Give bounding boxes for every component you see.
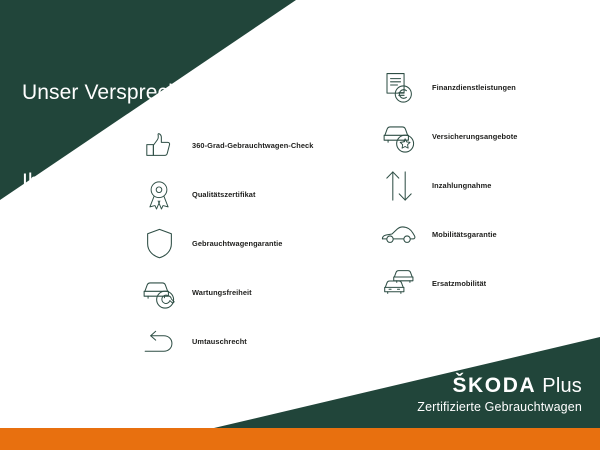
car-star-icon (376, 115, 422, 159)
thumbs-up-icon (136, 124, 182, 168)
feature-label: Mobilitätsgarantie (432, 230, 497, 239)
feature-item-finanzdienstleistungen[interactable]: Finanzdienstleistungen (376, 63, 517, 112)
feature-item-360-grad-check[interactable]: 360-Grad-Gebrauchtwagen-Check (136, 121, 313, 170)
feature-item-wartungsfreiheit[interactable]: Wartungsfreiheit (136, 268, 313, 317)
feature-label: Wartungsfreiheit (192, 288, 252, 297)
feature-list-left: 360-Grad-Gebrauchtwagen-Check Qualitätsz… (136, 121, 313, 366)
car-wrench-icon (136, 271, 182, 315)
feature-label: 360-Grad-Gebrauchtwagen-Check (192, 141, 313, 150)
feature-item-ersatzmobilitaet[interactable]: Ersatzmobilität (376, 259, 517, 308)
brand-tagline: Zertifizierte Gebrauchtwagen (417, 400, 582, 414)
car-side-icon (376, 213, 422, 257)
up-down-arrows-icon (376, 164, 422, 208)
feature-label: Ersatzmobilität (432, 279, 486, 288)
shield-icon (136, 222, 182, 266)
skoda-wordmark: ŠKODA (452, 375, 536, 396)
award-ribbon-icon (136, 173, 182, 217)
feature-label: Finanzdienstleistungen (432, 83, 516, 92)
feature-label: Inzahlungnahme (432, 181, 491, 190)
orange-footer-bar (0, 428, 600, 450)
brand-suffix: Plus (542, 376, 582, 396)
feature-item-umtauschrecht[interactable]: Umtauschrecht (136, 317, 313, 366)
brand-name-row: ŠKODA Plus (417, 375, 582, 396)
document-euro-icon (376, 66, 422, 110)
feature-label: Gebrauchtwagengarantie (192, 239, 282, 248)
feature-item-mobilitaetsgarantie[interactable]: Mobilitätsgarantie (376, 210, 517, 259)
feature-item-inzahlungnahme[interactable]: Inzahlungnahme (376, 161, 517, 210)
headline-line-1: Unser Versprechen. (22, 78, 209, 108)
feature-label: Qualitätszertifikat (192, 190, 256, 199)
feature-label: Umtauschrecht (192, 337, 247, 346)
two-cars-icon (376, 262, 422, 306)
u-turn-arrow-icon (136, 320, 182, 364)
brand-lockup: ŠKODA Plus Zertifizierte Gebrauchtwagen (417, 375, 582, 414)
feature-item-versicherungsangebote[interactable]: Versicherungsangebote (376, 112, 517, 161)
promo-banner: Unser Versprechen. Ihr Plus. 360-Grad-Ge… (0, 0, 600, 450)
feature-list-right: Finanzdienstleistungen Versicherungsange… (376, 63, 517, 308)
feature-label: Versicherungsangebote (432, 132, 517, 141)
feature-item-gebrauchtwagengarantie[interactable]: Gebrauchtwagengarantie (136, 219, 313, 268)
feature-item-qualitaetszertifikat[interactable]: Qualitätszertifikat (136, 170, 313, 219)
